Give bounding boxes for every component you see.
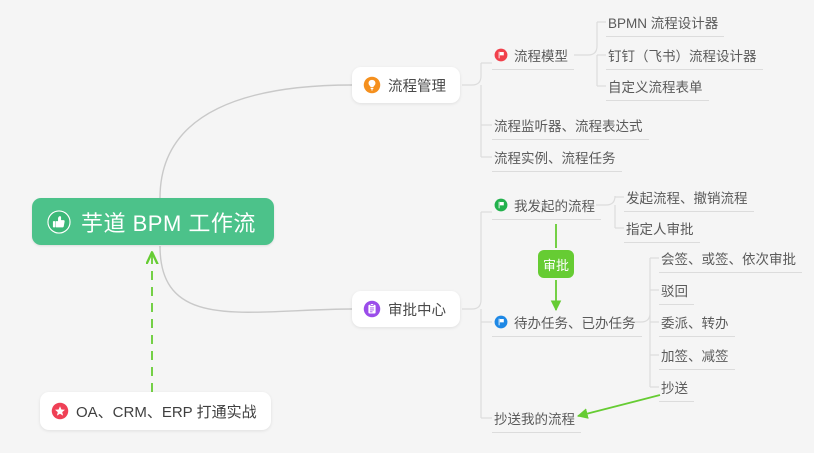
- node-start-cancel-process-label: 发起流程、撤销流程: [626, 187, 748, 207]
- node-reject-label: 驳回: [661, 280, 688, 300]
- arrow-cc-to-ccme: [578, 395, 660, 416]
- node-my-initiated[interactable]: 我发起的流程: [492, 190, 601, 220]
- node-cc[interactable]: 抄送: [659, 372, 694, 402]
- edge-process-model-spine: [574, 22, 597, 86]
- node-start-cancel-process[interactable]: 发起流程、撤销流程: [624, 182, 754, 212]
- edge-approval-center-spine: [462, 212, 481, 418]
- clipboard-icon: [363, 300, 381, 318]
- node-process-listener[interactable]: 流程监听器、流程表达式: [492, 110, 649, 140]
- branch-node-approval-center[interactable]: 审批中心: [352, 291, 460, 327]
- node-process-model[interactable]: 流程模型: [492, 40, 574, 70]
- node-cc-label: 抄送: [661, 377, 688, 397]
- floating-node-oa-crm-erp[interactable]: OA、CRM、ERP 打通实战: [40, 392, 271, 430]
- node-process-listener-label: 流程监听器、流程表达式: [494, 115, 643, 135]
- edge-root-to-approval-center: [160, 246, 352, 312]
- red-flag-icon: [494, 48, 508, 62]
- node-multi-sign-label: 会签、或签、依次审批: [661, 248, 796, 268]
- root-node[interactable]: 芋道 BPM 工作流: [32, 198, 274, 245]
- root-node-label: 芋道 BPM 工作流: [81, 206, 256, 238]
- node-process-instance-label: 流程实例、流程任务: [494, 147, 616, 167]
- blue-flag-icon: [494, 315, 508, 329]
- node-dingtalk-feishu-designer[interactable]: 钉钉（飞书）流程设计器: [606, 40, 763, 70]
- node-assigned-approval-label: 指定人审批: [626, 218, 694, 238]
- branch-node-process-management[interactable]: 流程管理: [352, 67, 460, 103]
- tag-node-label: 审批: [543, 255, 569, 274]
- floating-node-label: OA、CRM、ERP 打通实战: [76, 401, 257, 422]
- edge-root-to-process-management: [160, 85, 352, 198]
- node-delegate-transfer-label: 委派、转办: [661, 312, 729, 332]
- branch-node-label: 审批中心: [388, 299, 446, 320]
- green-flag-icon: [494, 198, 508, 212]
- node-cc-to-me[interactable]: 抄送我的流程: [492, 403, 581, 433]
- node-dingtalk-feishu-designer-label: 钉钉（飞书）流程设计器: [608, 45, 757, 65]
- node-assigned-approval[interactable]: 指定人审批: [624, 213, 700, 243]
- node-multi-sign[interactable]: 会签、或签、依次审批: [659, 243, 802, 273]
- edge-process-management-spine: [462, 63, 481, 157]
- node-bpmn-designer-label: BPMN 流程设计器: [608, 12, 718, 32]
- node-todo-done-tasks[interactable]: 待办任务、已办任务: [492, 307, 642, 337]
- thumbs-up-icon: [46, 209, 72, 235]
- node-custom-process-form-label: 自定义流程表单: [608, 76, 703, 96]
- branch-node-label: 流程管理: [388, 75, 446, 96]
- node-process-instance[interactable]: 流程实例、流程任务: [492, 142, 622, 172]
- node-my-initiated-label: 我发起的流程: [514, 195, 595, 215]
- node-process-model-label: 流程模型: [514, 45, 568, 65]
- node-cc-to-me-label: 抄送我的流程: [494, 408, 575, 428]
- mindmap-canvas: 芋道 BPM 工作流 OA、CRM、ERP 打通实战 流程管理: [0, 0, 814, 453]
- tag-node-approval[interactable]: 审批: [538, 250, 574, 278]
- node-custom-process-form[interactable]: 自定义流程表单: [606, 71, 709, 101]
- node-add-remove-sign-label: 加签、减签: [661, 345, 729, 365]
- node-todo-done-tasks-label: 待办任务、已办任务: [514, 312, 636, 332]
- lightbulb-icon: [363, 76, 381, 94]
- star-icon: [51, 402, 69, 420]
- node-reject[interactable]: 驳回: [659, 275, 694, 305]
- node-bpmn-designer[interactable]: BPMN 流程设计器: [606, 7, 724, 37]
- node-delegate-transfer[interactable]: 委派、转办: [659, 307, 735, 337]
- node-add-remove-sign[interactable]: 加签、减签: [659, 340, 735, 370]
